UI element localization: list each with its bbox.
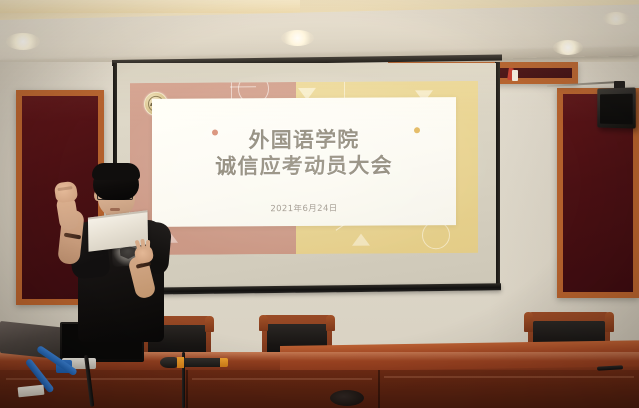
desk-panel-edge — [192, 378, 372, 380]
downlight-1 — [6, 33, 40, 50]
microphone-tail-cap — [220, 358, 228, 367]
desk-object-dark — [330, 390, 364, 406]
speaker-grille — [600, 94, 633, 125]
chair-post-right — [326, 315, 335, 331]
desk-panel-seam — [186, 370, 188, 408]
person-mouth — [110, 208, 120, 211]
downlight-4 — [603, 12, 629, 25]
fist-knuckle-line — [57, 186, 72, 191]
speaker-student — [40, 160, 190, 372]
person-hair-fringe — [92, 163, 140, 180]
chair-post-right — [605, 312, 614, 332]
desk-panel-edge — [384, 376, 634, 378]
downlight-2 — [281, 30, 314, 46]
desk-panel-edge — [6, 378, 182, 380]
chair-post-right — [205, 316, 214, 332]
chair-post-left — [524, 312, 533, 332]
person-raised-fist — [54, 181, 79, 204]
person-finger — [146, 240, 150, 250]
wall-fixture — [508, 68, 518, 82]
desk-panel-seam — [378, 370, 380, 408]
downlight-3 — [553, 40, 583, 55]
fixture-white-part — [512, 70, 518, 81]
photo-scene: 外国语学院 诚信应考动员大会 2021年6月24日 — [0, 0, 639, 408]
wall-speaker — [597, 87, 635, 128]
chair-post-left — [259, 315, 268, 331]
